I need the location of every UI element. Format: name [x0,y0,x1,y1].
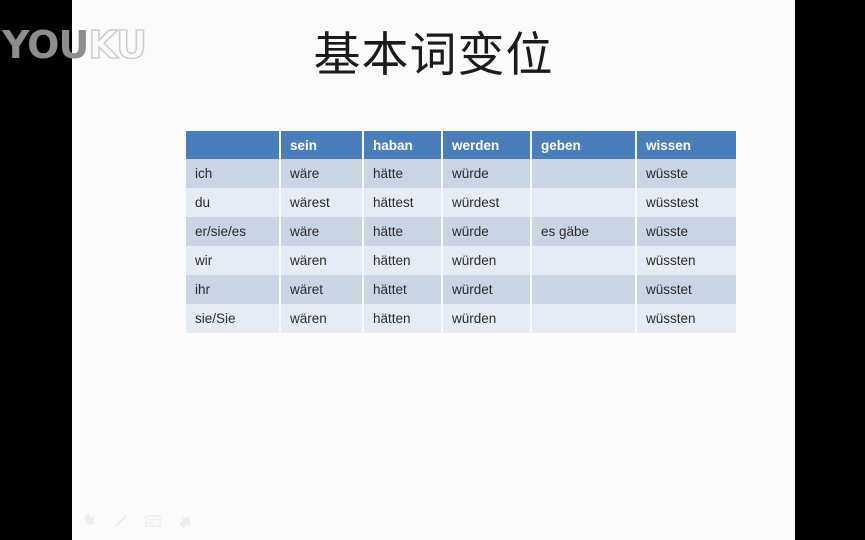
cell-pronoun: er/sie/es [186,217,280,246]
conjugation-table: sein haban werden geben wissen ich wäre … [186,131,736,333]
table-header-row: sein haban werden geben wissen [186,131,736,159]
table-body: ich wäre hätte würde wüsste du wärest hä… [186,159,736,333]
cell-haban: hätten [363,246,442,275]
pen-icon[interactable] [112,512,130,530]
presentation-slide: 基本词变位 sein haban werden geben wissen ich… [72,0,795,540]
cell-pronoun: sie/Sie [186,304,280,333]
cell-haban: hätte [363,159,442,188]
cell-sein: wäre [280,159,363,188]
cell-wissen: wüsste [636,217,736,246]
cell-werden: würde [442,159,531,188]
cell-wissen: wüsste [636,159,736,188]
cell-geben [531,159,636,188]
letterbox-bar-left [0,0,72,540]
column-header-sein: sein [280,131,363,159]
cell-wissen: wüssten [636,246,736,275]
table-row: wir wären hätten würden wüssten [186,246,736,275]
cell-geben: es gäbe [531,217,636,246]
column-header-pronoun [186,131,280,159]
table-row: du wärest hättest würdest wüsstest [186,188,736,217]
cell-sein: wären [280,304,363,333]
cell-pronoun: ihr [186,275,280,304]
cell-geben [531,304,636,333]
cell-werden: würden [442,304,531,333]
cell-geben [531,246,636,275]
slide-title: 基本词变位 [72,28,795,84]
cell-pronoun: ich [186,159,280,188]
cell-pronoun: wir [186,246,280,275]
cell-sein: wärest [280,188,363,217]
slide-annotation-toolbar[interactable] [80,512,194,530]
cell-haban: hätte [363,217,442,246]
column-header-haban: haban [363,131,442,159]
cell-sein: wären [280,246,363,275]
pointer-arrow-icon[interactable] [80,512,98,530]
cell-pronoun: du [186,188,280,217]
cell-haban: hättest [363,188,442,217]
table-row: er/sie/es wäre hätte würde es gäbe wüsst… [186,217,736,246]
table-row: sie/Sie wären hätten würden wüssten [186,304,736,333]
column-header-geben: geben [531,131,636,159]
table-row: ihr wäret hättet würdet wüsstet [186,275,736,304]
cell-geben [531,275,636,304]
table-row: ich wäre hätte würde wüsste [186,159,736,188]
cell-werden: würdest [442,188,531,217]
cell-sein: wäret [280,275,363,304]
column-header-wissen: wissen [636,131,736,159]
list-lines-icon[interactable] [144,512,162,530]
cell-haban: hättet [363,275,442,304]
cell-sein: wäre [280,217,363,246]
column-header-werden: werden [442,131,531,159]
cell-werden: würden [442,246,531,275]
cell-werden: würdet [442,275,531,304]
cell-werden: würde [442,217,531,246]
watermark-text-secondary: KU [88,23,146,67]
video-player-viewport: 基本词变位 sein haban werden geben wissen ich… [0,0,865,540]
next-arrow-icon[interactable] [176,512,194,530]
table-header: sein haban werden geben wissen [186,131,736,159]
cell-wissen: wüsstet [636,275,736,304]
youku-watermark: YOUKU [2,24,146,66]
letterbox-bar-right [795,0,865,540]
cell-geben [531,188,636,217]
watermark-text-primary: YOU [2,23,88,67]
cell-wissen: wüssten [636,304,736,333]
cell-wissen: wüsstest [636,188,736,217]
cell-haban: hätten [363,304,442,333]
